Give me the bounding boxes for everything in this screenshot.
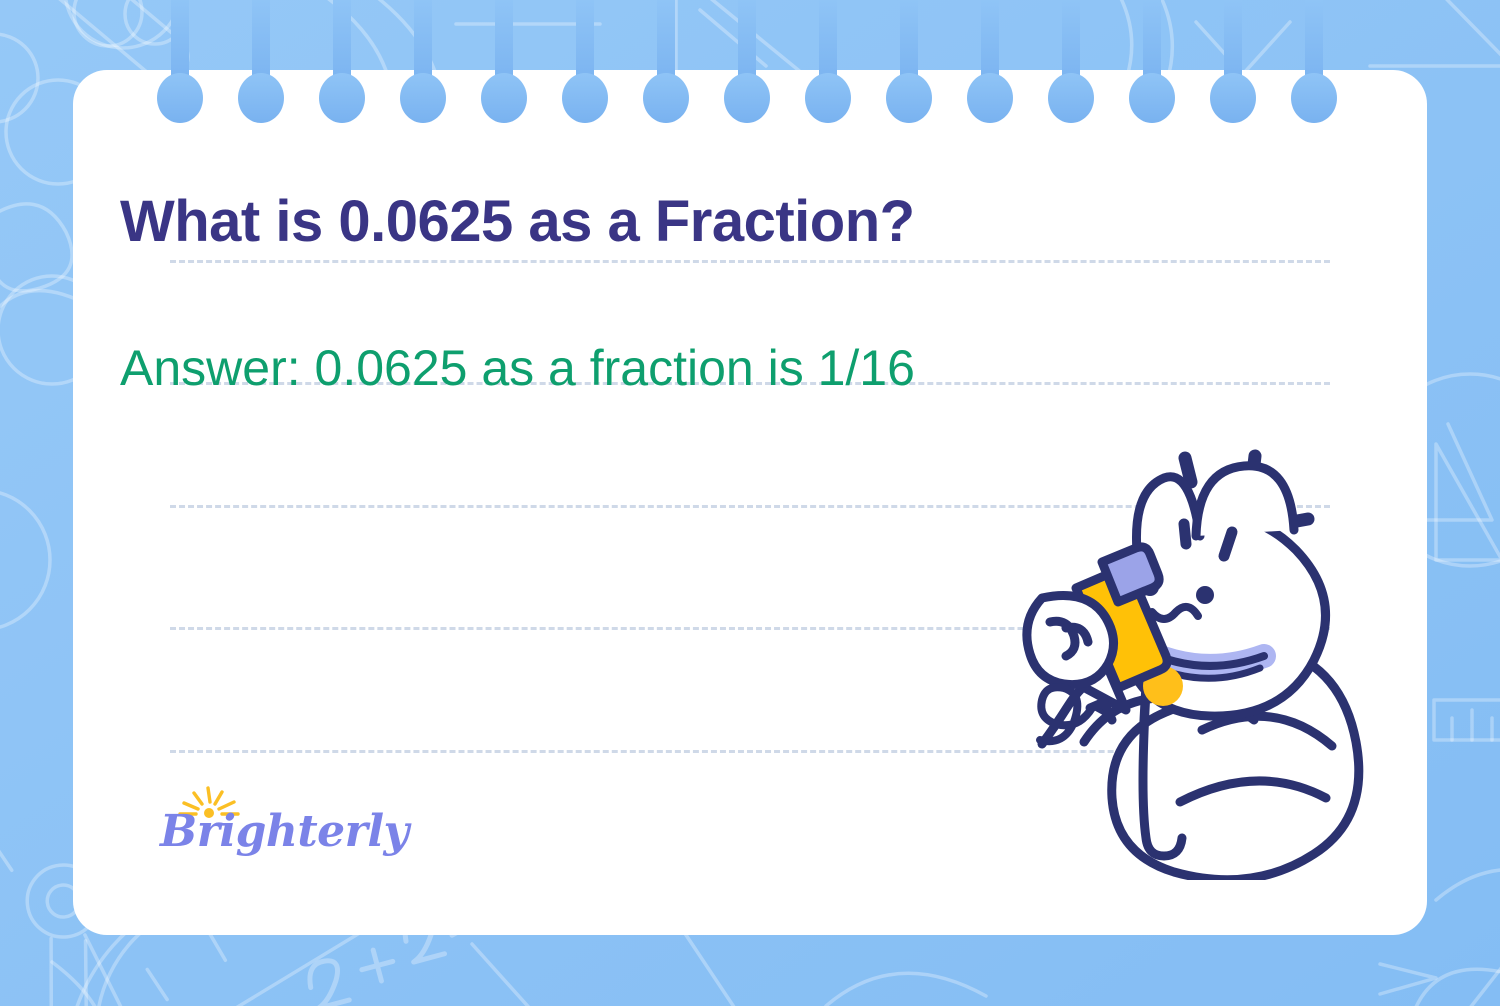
logo-wordmark: Brighterly bbox=[160, 806, 409, 857]
poster-canvas: What is 0.0625 as a Fraction? Answer: 0.… bbox=[0, 0, 1500, 1006]
page-title: What is 0.0625 as a Fraction? bbox=[120, 190, 1360, 254]
answer-text: Answer: 0.0625 as a fraction is 1/16 bbox=[120, 341, 1360, 396]
brighterly-logo[interactable]: Brighterly bbox=[160, 786, 370, 866]
